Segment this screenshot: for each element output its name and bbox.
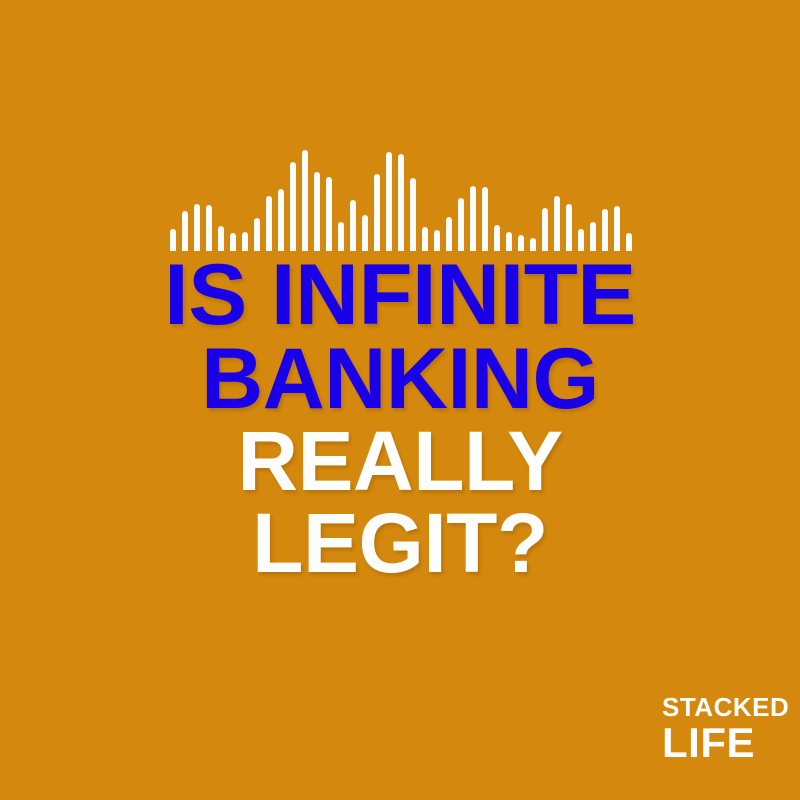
waveform-bar xyxy=(602,209,608,251)
waveform-bar xyxy=(410,178,416,251)
waveform-bar xyxy=(458,198,464,251)
waveform-bar xyxy=(362,215,368,251)
waveform-bar xyxy=(398,154,404,251)
headline-line-2: BANKING xyxy=(0,342,800,418)
waveform-bar xyxy=(206,205,212,251)
headline-line-4: LEGIT? xyxy=(0,507,800,581)
waveform-bar xyxy=(314,172,320,251)
waveform-bar xyxy=(566,204,572,251)
waveform-bar xyxy=(482,187,488,251)
brand-logo: STACKED LIFE xyxy=(662,694,789,764)
headline-block: IS INFINITE BANKING REALLY LEGIT? xyxy=(0,258,800,581)
waveform-bar xyxy=(278,189,284,251)
audio-waveform-graphic xyxy=(170,150,638,251)
waveform-bar xyxy=(290,162,296,251)
waveform-bar xyxy=(614,206,620,251)
waveform-bar xyxy=(350,200,356,251)
waveform-bar xyxy=(326,177,332,251)
waveform-bar xyxy=(542,208,548,251)
poster-canvas: IS INFINITE BANKING REALLY LEGIT? STACKE… xyxy=(0,0,800,800)
waveform-bar xyxy=(302,150,308,251)
brand-logo-line-1: STACKED xyxy=(662,694,789,720)
headline-line-1: IS INFINITE xyxy=(0,258,800,334)
waveform-bar xyxy=(470,186,476,251)
waveform-bar xyxy=(446,217,452,251)
waveform-bar xyxy=(182,211,188,251)
waveform-bar xyxy=(194,204,200,251)
waveform-bar xyxy=(374,174,380,251)
waveform-bar xyxy=(386,152,392,251)
brand-logo-line-2: LIFE xyxy=(662,722,789,764)
diagonal-dashes-bottom-left-icon xyxy=(0,605,200,800)
waveform-bar xyxy=(554,196,560,251)
headline-line-3: REALLY xyxy=(0,425,800,499)
waveform-bar xyxy=(266,196,272,251)
